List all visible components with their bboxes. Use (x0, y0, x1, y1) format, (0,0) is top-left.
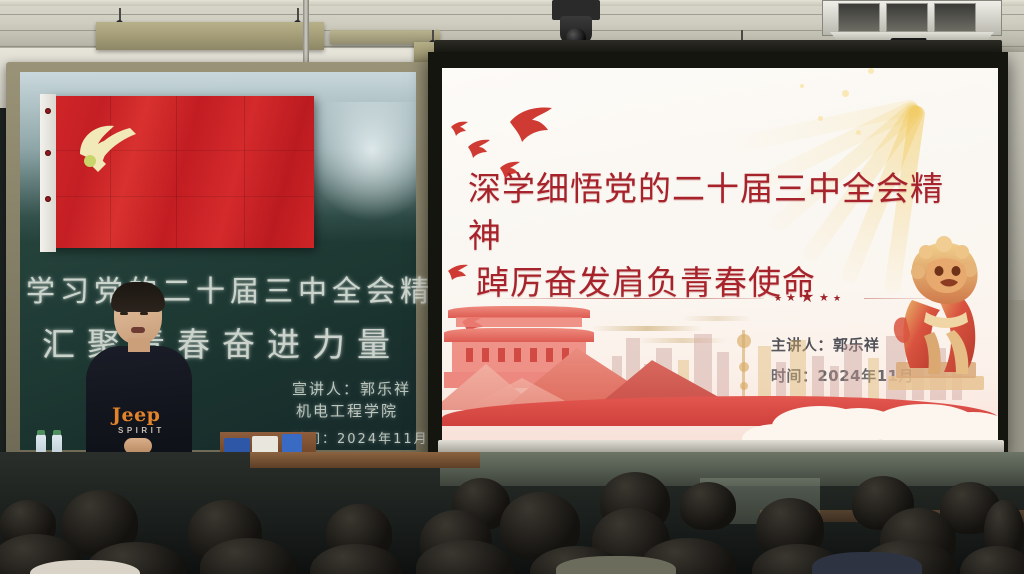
audience-head (680, 482, 736, 530)
presenter-hair (111, 282, 165, 312)
projector-vent (934, 3, 976, 32)
dove-icon (506, 104, 558, 146)
blackboard-note-1: 宣讲人：郭乐祥 (292, 378, 411, 399)
projector-vent (886, 3, 928, 32)
dove-icon (466, 138, 492, 160)
dove-icon (446, 263, 470, 281)
blue-box (282, 434, 302, 454)
guardian-lion-statue-icon (882, 226, 990, 412)
sweatshirt-brand-label: Jeep (112, 404, 160, 426)
ceiling-lamp (96, 22, 324, 50)
blackboard-note-2: 机电工程学院 (296, 400, 398, 421)
audience (0, 452, 1024, 574)
presentation-slide: 深学细悟党的二十届三中全会精神 踔厉奋发肩负青春使命 ★ ★ ★ ★ ★ 主讲人… (442, 68, 998, 440)
flag-hoist-strip (40, 94, 56, 252)
presenter: Jeep SPIRIT (86, 286, 192, 468)
presenter-mouth (131, 327, 145, 333)
presenter-neck (128, 338, 150, 352)
projector-vent (838, 3, 880, 32)
dove-icon (450, 120, 470, 137)
sweatshirt-sub-label: SPIRIT (118, 426, 165, 435)
blackboard-glare-highlight (306, 102, 416, 222)
hammer-and-sickle-icon (74, 118, 152, 182)
classroom-scene: 学习党的二十届三中全会精神 汇聚青春奋进力量 宣讲人：郭乐祥 机电工程学院 时间… (0, 0, 1024, 574)
